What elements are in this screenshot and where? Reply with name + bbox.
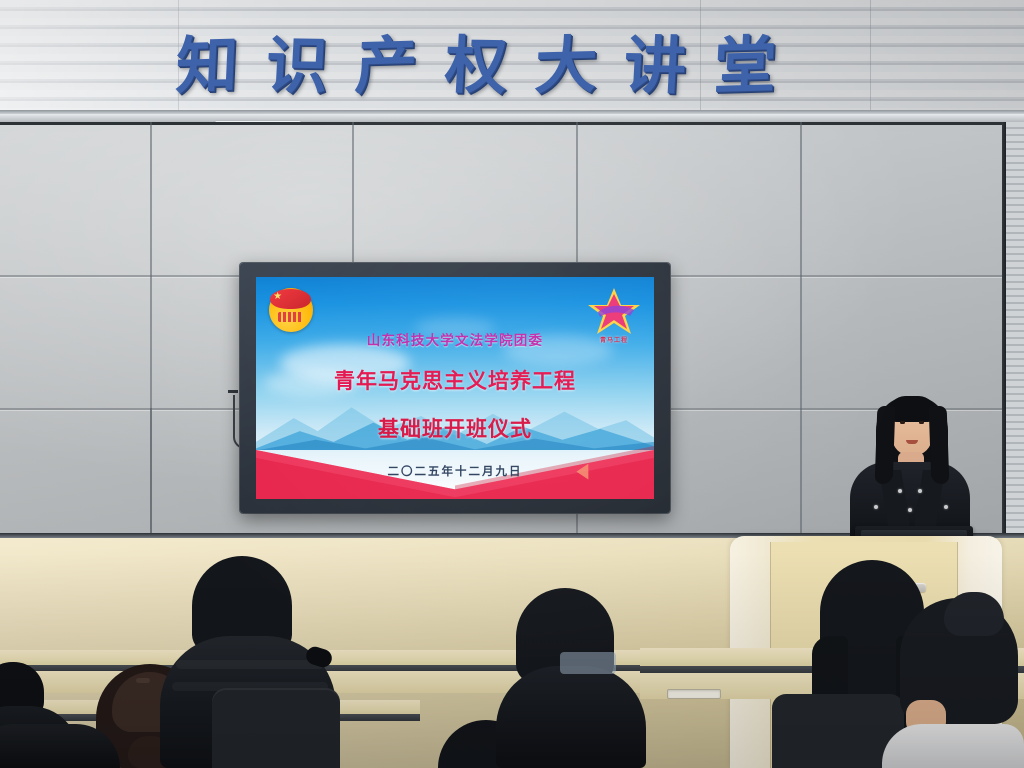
panel-seam-vertical-6 <box>150 408 152 538</box>
slide-organization: 山东科技大学文法学院团委 <box>367 329 543 349</box>
lecture-hall-photo: 知 识 产 权 大 讲 堂 <box>0 0 1024 768</box>
audience-shirt-7 <box>882 724 1024 768</box>
slide-title-line1: 青年马克思主义培养工程 <box>334 365 576 395</box>
audience-hair-bun-7 <box>944 592 1004 636</box>
slide-date: 二〇二五年十二月九日 <box>388 463 523 479</box>
sign-char-7: 堂 <box>713 34 778 98</box>
sign-char-1: 知 <box>175 34 240 98</box>
jacket-button-4 <box>874 505 878 509</box>
puffer-seam-1 <box>176 660 324 669</box>
slide-screen: ★ 青马工程 山东科技大学文法学院团委 青年马克思主义培养工程 基础班开班仪式 … <box>256 277 654 499</box>
audience-shoulders-5 <box>496 666 646 768</box>
audience-collar-5 <box>560 652 616 674</box>
presenter-hair-left <box>875 406 896 485</box>
jacket-button-1 <box>898 489 902 493</box>
slide-text-block: 山东科技大学文法学院团委 青年马克思主义培养工程 基础班开班仪式 二〇二五年十二… <box>256 277 654 499</box>
sign-char-2: 识 <box>264 34 329 97</box>
venue-sign: 知 识 产 权 大 讲 堂 <box>176 24 776 108</box>
ceiling-trim-lower <box>0 114 1024 122</box>
slide-title-line2: 基础班开班仪式 <box>378 413 532 443</box>
presenter-eye-left <box>900 421 905 424</box>
presenter-hair-right <box>929 406 950 485</box>
panel-seam-vertical-4 <box>800 122 802 538</box>
chair-back-1 <box>212 688 340 768</box>
display-cable-anchor <box>228 390 238 393</box>
sign-char-4: 权 <box>443 34 508 97</box>
panel-seam-vertical-2 <box>352 122 354 276</box>
sign-char-3: 产 <box>354 34 419 98</box>
jacket-button-5 <box>944 505 948 509</box>
desk-cable-tray[interactable] <box>667 689 721 699</box>
presentation-display[interactable]: ★ 青马工程 山东科技大学文法学院团委 青年马克思主义培养工程 基础班开班仪式 … <box>240 263 670 513</box>
panel-wall-top-edge <box>0 122 1024 125</box>
sign-char-5: 大 <box>533 34 598 98</box>
sign-char-6: 讲 <box>623 34 688 97</box>
wall-far-slat-strip <box>1006 122 1024 538</box>
panel-seam-vertical-3 <box>576 122 578 276</box>
jacket-button-3 <box>908 508 912 512</box>
audience-hairclip-2 <box>136 678 150 683</box>
presenter-eye-right <box>919 421 924 424</box>
jacket-button-2 <box>918 489 922 493</box>
